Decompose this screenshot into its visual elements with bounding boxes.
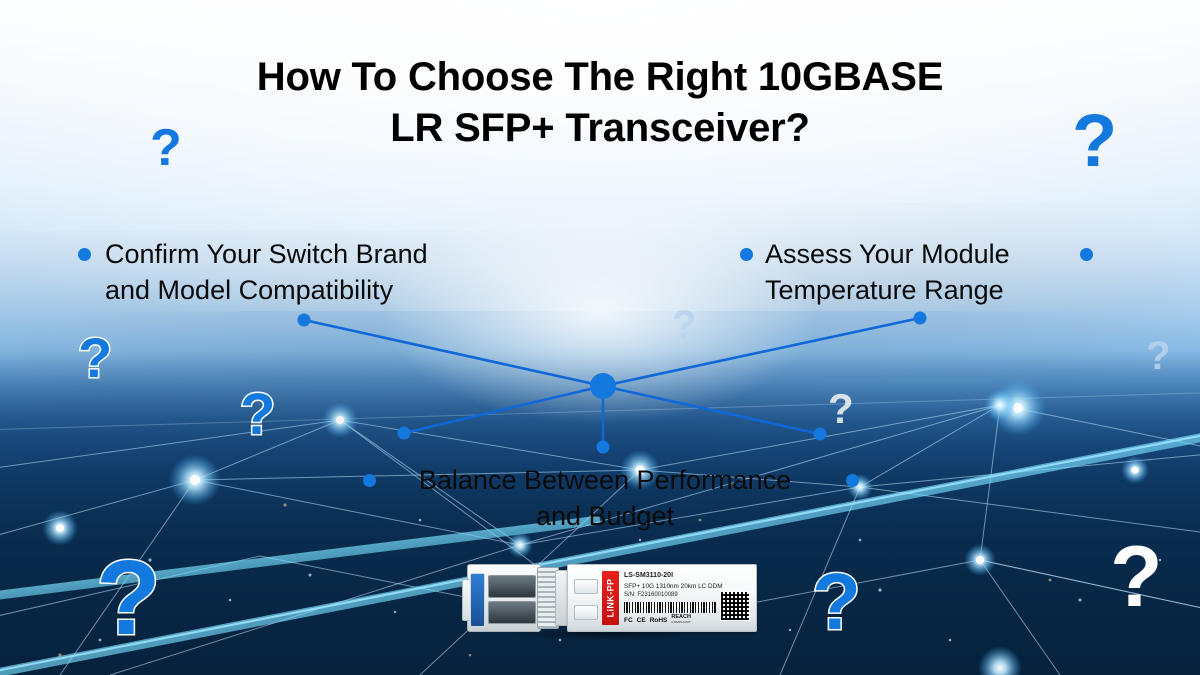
cert-fc-icon: FC: [624, 617, 633, 624]
connector-line-top-right: [603, 318, 920, 386]
infographic-canvas: ? ? ? ? ? ? ? ? ? ? How To Choose The Ri…: [0, 0, 1200, 675]
module-blue-latch: [470, 573, 485, 627]
connector-line-bottom-right: [603, 386, 820, 434]
graph-node-bottom-left: [398, 427, 411, 440]
bullet-dot-performance-budget-left: [363, 474, 376, 487]
callout-performance-budget-line-1: Balance Between Performance: [385, 462, 825, 498]
callout-switch-compatibility-line-1: Confirm Your Switch Brand: [105, 236, 428, 272]
graph-node-top-left: [298, 314, 311, 327]
connector-line-top-left: [304, 320, 603, 386]
connector-line-bottom-left: [404, 386, 603, 433]
module-clip-top: [574, 579, 598, 594]
cert-reach-icon: REACH COMPLIANT: [671, 615, 691, 624]
cert-ce-icon: CE: [637, 617, 646, 624]
page-title-line-2: LR SFP+ Transceiver?: [0, 103, 1200, 154]
callout-temperature-range-line-2: Temperature Range: [765, 272, 1010, 308]
module-brand-name: LiNK-PP: [606, 579, 616, 618]
module-label: LS-SM3110-20I SFP+ 10G 1310nm 20km LC DD…: [624, 571, 720, 624]
bullet-dot-switch-compatibility: [78, 248, 91, 261]
module-qr-code: [720, 591, 750, 621]
module-clip-bottom: [574, 605, 598, 620]
module-lc-connector-cage: [467, 564, 541, 632]
graph-node-top-right: [914, 312, 927, 325]
cert-reach-sublabel: COMPLIANT: [671, 621, 691, 624]
module-certification-row: FC CE RoHS REACH COMPLIANT: [624, 615, 720, 624]
module-part-number: LS-SM3110-20I: [624, 571, 720, 582]
page-title-line-1: How To Choose The Right 10GBASE: [0, 52, 1200, 103]
cert-rohs-icon: RoHS: [650, 617, 668, 624]
bullet-dot-temperature-range-left: [740, 248, 753, 261]
sfp-transceiver-module: LiNK-PP LS-SM3110-20I SFP+ 10G 1310nm 20…: [455, 556, 755, 642]
graph-hub-node: [590, 373, 616, 399]
module-spec-line: SFP+ 10G 1310nm 20km LC DDM: [624, 582, 720, 592]
module-optical-port-rx: [488, 601, 536, 624]
graph-node-bottom: [597, 441, 610, 454]
module-barcode: [624, 602, 716, 613]
callout-switch-compatibility-line-2: and Model Compatibility: [105, 272, 428, 308]
module-brand-strip: LiNK-PP: [602, 571, 619, 625]
callout-temperature-range-line-1: Assess Your Module: [765, 236, 1010, 272]
bullet-dot-temperature-range-right: [1080, 248, 1093, 261]
module-serial-number: S/N: F23160010089: [624, 591, 720, 601]
graph-node-bottom-right: [814, 428, 827, 441]
page-title: How To Choose The Right 10GBASE LR SFP+ …: [0, 52, 1200, 154]
callout-switch-compatibility: Confirm Your Switch Brand and Model Comp…: [105, 236, 428, 308]
callout-temperature-range: Assess Your Module Temperature Range: [765, 236, 1010, 308]
module-optical-port-tx: [488, 575, 536, 598]
bullet-dot-performance-budget-right: [846, 474, 859, 487]
module-body: LiNK-PP LS-SM3110-20I SFP+ 10G 1310nm 20…: [567, 564, 757, 632]
callout-performance-budget: Balance Between Performance and Budget: [385, 462, 825, 534]
callout-performance-budget-line-2: and Budget: [385, 498, 825, 534]
